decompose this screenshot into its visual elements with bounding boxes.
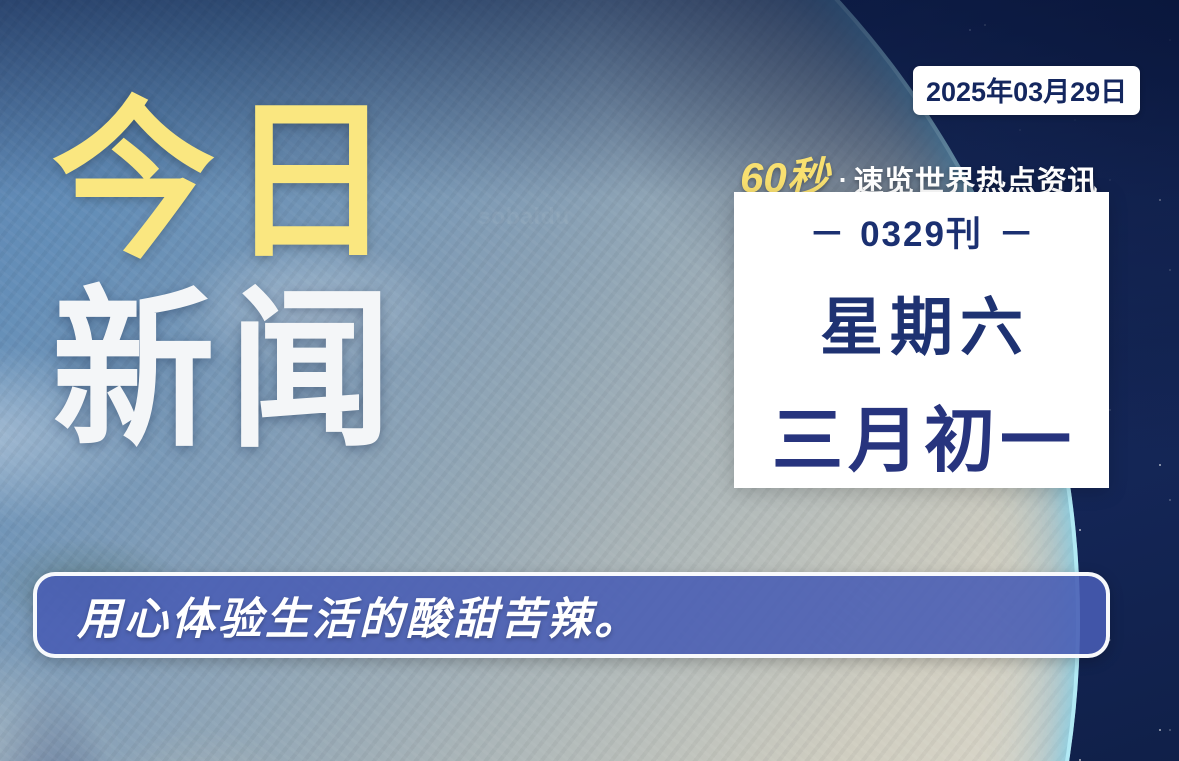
issue-number: 0329刊 [860,215,983,254]
info-card: － 0329刊 － 星期六 三月初一 [734,192,1109,488]
date-badge: 2025年03月29日 [913,66,1140,115]
lunar-date-label: 三月初一 [767,384,1076,486]
weekday-label: 星期六 [813,277,1030,368]
news-poster: sobaidu 今日 新闻 2025年03月29日 60秒 · 速览世界热点资讯… [0,0,1179,761]
issue-dash-left: － [805,215,848,254]
headline-line-today: 今日 [52,95,406,268]
content-layer: 今日 新闻 2025年03月29日 60秒 · 速览世界热点资讯 － 0329刊… [0,0,1179,761]
headline-block: 今日 新闻 [52,95,406,447]
issue-row: － 0329刊 － [805,206,1037,257]
quote-bar: 用心体验生活的酸甜苦辣。 [33,572,1110,658]
quote-text: 用心体验生活的酸甜苦辣。 [77,583,641,647]
headline-line-news: 新闻 [52,284,406,457]
issue-dash-right: － [995,215,1038,254]
